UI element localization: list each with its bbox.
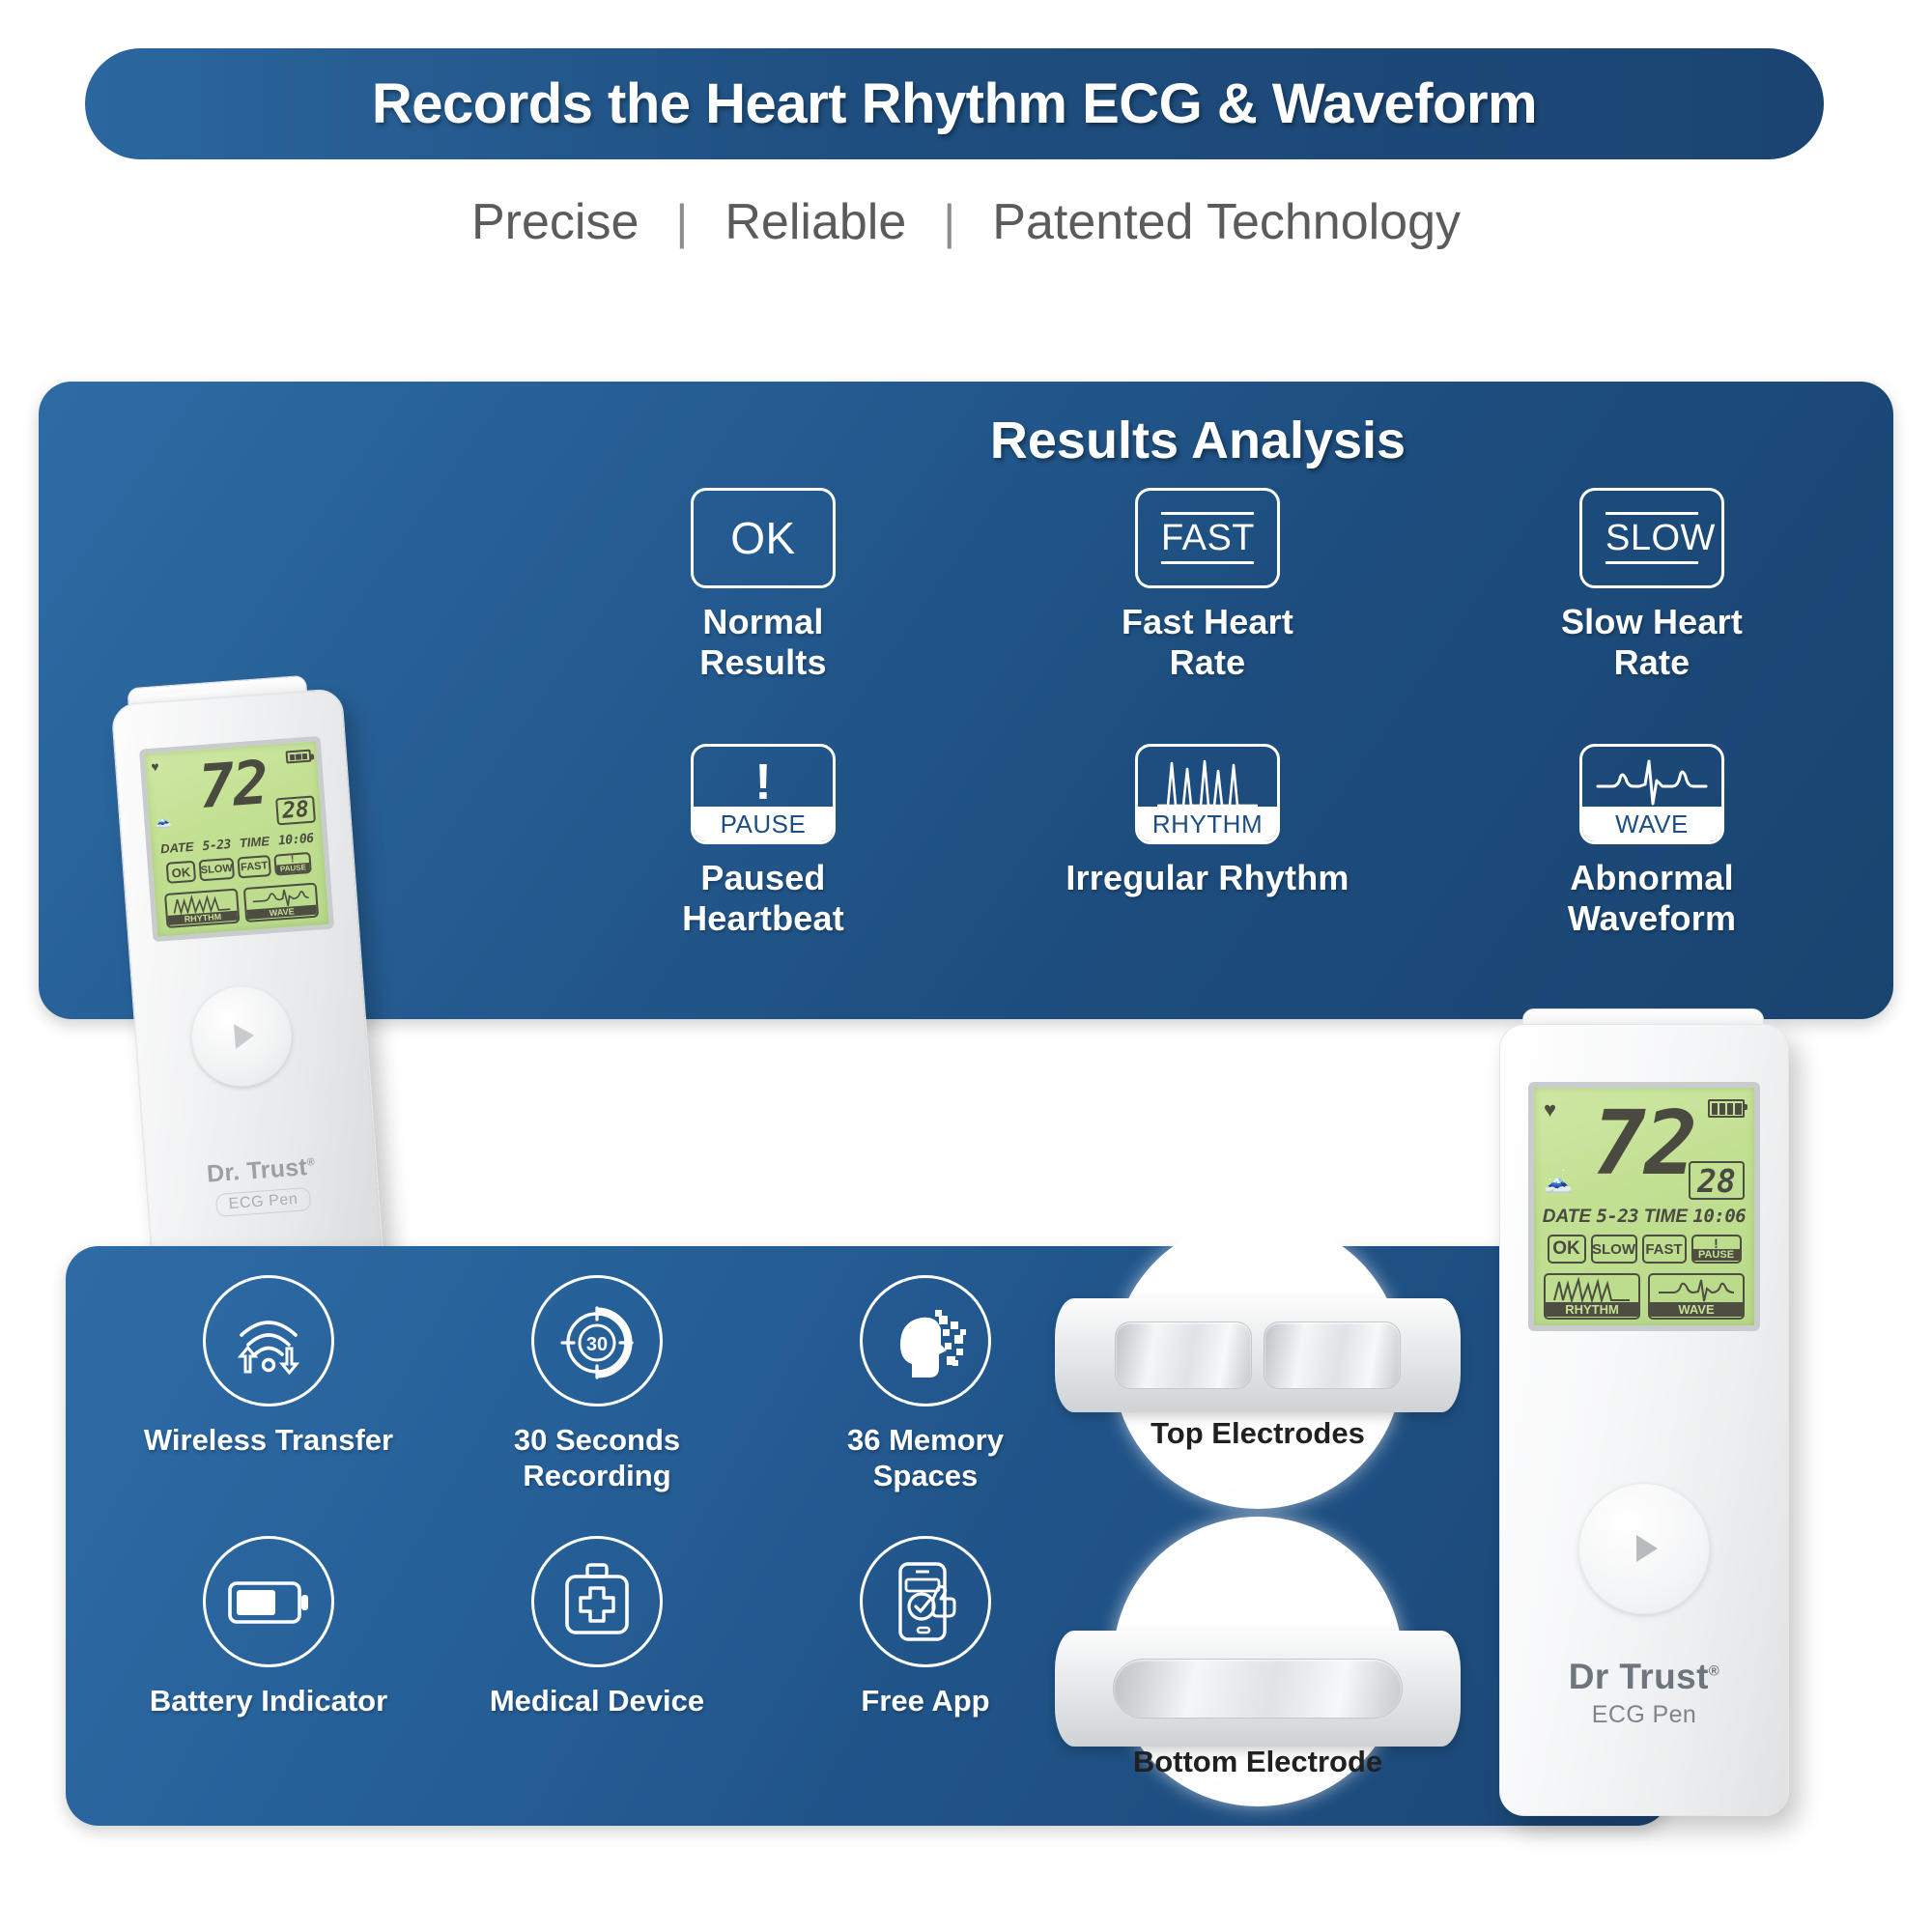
medical-kit-icon	[531, 1536, 663, 1667]
result-caption-fast: Fast HeartRate	[1122, 602, 1293, 683]
lcd-inner: ♥ 🗻 72 28 DATE 5-23 TIME 10:06 OK SLOW F…	[1534, 1088, 1754, 1325]
result-item-ok: OK NormalResults	[541, 488, 985, 744]
lcd-seg-rhythm: RHYTHM	[164, 889, 240, 928]
subtitle-item-reliable: Reliable	[724, 193, 906, 251]
feature-label-memory: 36 MemorySpaces	[847, 1422, 1004, 1493]
lcd-seg-wave: WAVE	[243, 883, 319, 923]
lcd-seg-rhythm: RHYTHM	[1544, 1273, 1640, 1320]
top-electrode-band	[1055, 1298, 1461, 1412]
lcd-seg-pause: ! PAUSE	[273, 852, 312, 876]
lcd-rhythm-spikes-icon	[1551, 1277, 1633, 1302]
play-triangle-icon	[234, 1023, 255, 1049]
ecg-pen-device-left: ♥ 🗻 72 28 DATE 5-23 TIME 10:06 OK SLOW	[111, 688, 388, 1331]
feature-label-recording: 30 SecondsRecording	[514, 1422, 680, 1493]
slow-badge-rules: SLOW	[1605, 512, 1698, 564]
result-caption-normal: NormalResults	[699, 602, 826, 683]
device-lcd-right: ♥ 🗻 72 28 DATE 5-23 TIME 10:06 OK SLOW F…	[1528, 1082, 1760, 1331]
lcd-memory-value: 28	[275, 796, 316, 826]
lcd-time-value: 10:06	[1693, 1206, 1747, 1227]
slow-badge-icon: SLOW	[1579, 488, 1724, 588]
ok-badge-label: OK	[730, 516, 795, 560]
subtitle-separator: |	[943, 194, 955, 250]
result-caption-pause: PausedHeartbeat	[682, 858, 844, 939]
electrode-pad	[1113, 1659, 1403, 1719]
lcd-seg-fast: FAST	[237, 855, 271, 878]
fast-badge-rules: FAST	[1161, 512, 1254, 564]
feature-label-medical: Medical Device	[490, 1683, 704, 1719]
lcd-status-row-1: OK SLOW FAST ! PAUSE	[153, 851, 326, 885]
electrode-pad	[1264, 1321, 1401, 1389]
lcd-seg-pause-label: PAUSE	[276, 863, 310, 873]
brand-name: Dr Trust®	[1499, 1657, 1789, 1697]
lcd-seg-bang: !	[1714, 1238, 1719, 1249]
electrode-pad	[1115, 1321, 1252, 1389]
ecg-pen-device-right: ♥ 🗻 72 28 DATE 5-23 TIME 10:06 OK SLOW F…	[1499, 1024, 1789, 1816]
lcd-date-value: 5-23	[202, 838, 231, 854]
lcd-seg-pause: ! PAUSE	[1691, 1235, 1742, 1264]
pause-bang-label: !	[754, 760, 771, 806]
ok-badge-icon: OK	[691, 488, 836, 588]
results-analysis-title: Results Analysis	[541, 411, 1855, 470]
result-item-slow: SLOW Slow HeartRate	[1430, 488, 1874, 744]
header-banner: Records the Heart Rhythm ECG & Waveform	[85, 48, 1824, 159]
lcd-seg-wave-label: WAVE	[1650, 1302, 1743, 1317]
lcd-seg-rhythm-label: RHYTHM	[1546, 1302, 1638, 1317]
exclamation-icon: !	[694, 753, 833, 812]
wave-badge-icon: WAVE	[1579, 744, 1724, 844]
device-lcd-left: ♥ 🗻 72 28 DATE 5-23 TIME 10:06 OK SLOW	[139, 736, 334, 942]
rhythm-spikes-icon	[1138, 753, 1277, 812]
feature-label-wireless: Wireless Transfer	[144, 1422, 393, 1458]
callout-top-electrodes: Top Electrodes	[1113, 1219, 1403, 1509]
results-grid: OK NormalResults FAST Fast HeartRate	[541, 488, 1874, 1000]
feature-memory-spaces: 36 MemorySpaces	[761, 1275, 1090, 1536]
pause-badge-label: PAUSE	[694, 807, 833, 841]
features-grid: Wireless Transfer 30	[104, 1275, 1090, 1797]
registered-mark: ®	[306, 1156, 315, 1169]
subtitle-row: Precise | Reliable | Patented Technology	[0, 193, 1932, 251]
feature-label-battery: Battery Indicator	[150, 1683, 387, 1719]
subtitle-item-patented: Patented Technology	[992, 193, 1461, 251]
lcd-seg-slow: SLOW	[1591, 1235, 1637, 1264]
callout-bottom-electrode: Bottom Electrode	[1113, 1517, 1403, 1806]
lcd-seg-ok: OK	[166, 861, 197, 884]
bottom-electrode-band	[1055, 1631, 1461, 1747]
rule-mid: FAST	[1161, 515, 1254, 561]
device-power-button[interactable]	[1578, 1483, 1710, 1614]
rule-mid: SLOW	[1605, 515, 1698, 561]
rhythm-badge-label: RHYTHM	[1138, 807, 1277, 841]
pause-badge-icon: ! PAUSE	[691, 744, 836, 844]
result-caption-slow: Slow HeartRate	[1561, 602, 1743, 683]
lcd-seg-slow: SLOW	[199, 858, 236, 882]
registered-mark: ®	[1709, 1663, 1719, 1680]
lcd-seg-pause-label: PAUSE	[1693, 1249, 1740, 1261]
lcd-date-label: DATE	[1543, 1207, 1591, 1228]
lcd-seg-ok: OK	[1548, 1235, 1586, 1264]
lcd-time-label: TIME	[1644, 1207, 1688, 1228]
stopwatch-30-icon: 30	[531, 1275, 663, 1406]
result-item-pause: ! PAUSE PausedHeartbeat	[541, 744, 985, 1000]
rule-bottom	[1605, 561, 1698, 564]
lcd-status-row-2: RHYTHM WAVE	[1534, 1273, 1754, 1320]
result-item-fast: FAST Fast HeartRate	[985, 488, 1430, 744]
page-title: Records the Heart Rhythm ECG & Waveform	[372, 71, 1537, 136]
feature-medical-device: Medical Device	[433, 1536, 761, 1797]
device-branding: Dr Trust® ECG Pen	[1499, 1657, 1789, 1729]
lcd-seg-fast: FAST	[1642, 1235, 1687, 1264]
lcd-date-value: 5-23	[1596, 1206, 1638, 1227]
feature-label-app: Free App	[861, 1683, 989, 1719]
stopwatch-value: 30	[586, 1334, 608, 1355]
results-analysis-panel: Results Analysis OK NormalResults FAST	[39, 382, 1893, 1019]
memory-head-icon	[860, 1275, 991, 1406]
slow-badge-label: SLOW	[1605, 518, 1716, 558]
rhythm-badge-icon: RHYTHM	[1135, 744, 1280, 844]
lcd-inner: ♥ 🗻 72 28 DATE 5-23 TIME 10:06 OK SLOW	[144, 741, 328, 937]
feature-free-app: Free App	[761, 1536, 1090, 1797]
lcd-date-label: DATE	[160, 839, 194, 856]
callout-label-top: Top Electrodes	[1113, 1416, 1403, 1451]
fast-badge-icon: FAST	[1135, 488, 1280, 588]
lcd-status-row-2: RHYTHM WAVE	[155, 882, 328, 929]
lcd-status-row-1: OK SLOW FAST ! PAUSE	[1534, 1235, 1754, 1264]
result-caption-rhythm: Irregular Rhythm	[1065, 858, 1349, 898]
infographic-page: Records the Heart Rhythm ECG & Waveform …	[0, 0, 1932, 1932]
rule-bottom	[1161, 561, 1254, 564]
subtitle-item-precise: Precise	[471, 193, 639, 251]
play-triangle-icon	[1636, 1535, 1658, 1562]
lcd-time-label: TIME	[239, 834, 270, 850]
feature-wireless-transfer: Wireless Transfer	[104, 1275, 433, 1536]
ecg-wave-icon	[1582, 753, 1721, 812]
result-caption-wave: AbnormalWaveform	[1568, 858, 1736, 939]
result-item-wave: WAVE AbnormalWaveform	[1430, 744, 1874, 1000]
feature-battery-indicator: Battery Indicator	[104, 1536, 433, 1797]
feature-30-seconds: 30 30 SecondsRecording	[433, 1275, 761, 1536]
free-app-icon	[860, 1536, 991, 1667]
wireless-transfer-icon	[203, 1275, 334, 1406]
lcd-date-time: DATE 5-23 TIME 10:06	[1534, 1206, 1754, 1228]
lcd-wave-icon	[1656, 1277, 1737, 1302]
wave-badge-label: WAVE	[1582, 807, 1721, 841]
lcd-time-value: 10:06	[278, 832, 315, 849]
brand-model: ECG Pen	[1499, 1701, 1789, 1729]
callout-label-bottom: Bottom Electrode	[1113, 1745, 1403, 1779]
lcd-memory-value: 28	[1689, 1161, 1745, 1200]
result-item-rhythm: RHYTHM Irregular Rhythm	[985, 744, 1430, 1000]
lcd-seg-wave: WAVE	[1648, 1273, 1745, 1320]
subtitle-separator: |	[675, 194, 688, 250]
battery-icon	[203, 1536, 334, 1667]
fast-badge-label: FAST	[1161, 518, 1255, 558]
